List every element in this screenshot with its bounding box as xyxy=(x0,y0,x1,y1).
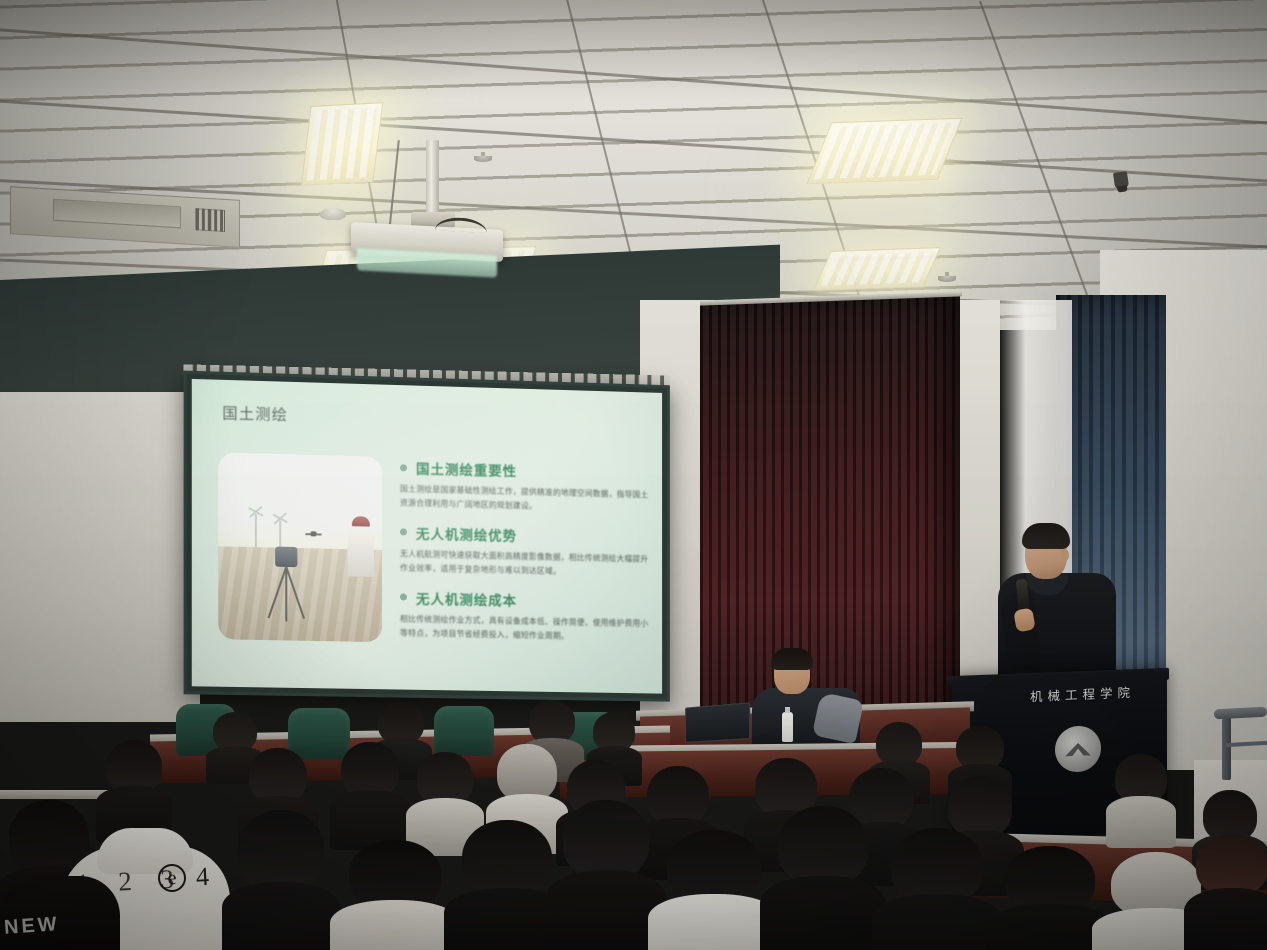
audience-member xyxy=(330,742,410,840)
slide-bullet-item: 无人机测绘优势 无人机航测可快速获取大面积高精度影像数据，相比传统测绘大幅提升作… xyxy=(400,522,648,581)
projection-screen: 国土测绘 xyxy=(184,371,670,702)
bullet-body: 相比传统测绘作业方式，具有设备成本低、操作简便、使用维护费用小等特点，为项目节省… xyxy=(400,612,648,645)
audience-member xyxy=(1184,834,1267,950)
audience-member xyxy=(760,806,886,950)
slide-bullet-list: 国土测绘重要性 国土测绘是国家基础性测绘工作，提供精准的地理空间数据，指导国土资… xyxy=(400,457,648,656)
seated-person xyxy=(752,648,860,742)
bullet-dot-icon xyxy=(400,464,407,471)
ceiling-projector xyxy=(351,222,503,262)
audience-member xyxy=(1106,754,1176,838)
projector-mount-pole xyxy=(426,140,439,218)
audience-member xyxy=(222,810,340,950)
audience-member xyxy=(330,840,460,950)
left-wall xyxy=(0,392,200,722)
laptop xyxy=(685,702,750,743)
railing-post xyxy=(1222,718,1231,780)
slide-bullet-item: 国土测绘重要性 国土测绘是国家基础性测绘工作，提供精准的地理空间数据，指导国土资… xyxy=(400,457,648,517)
presentation-slide: 国土测绘 xyxy=(192,379,662,694)
shirt-print-text: NEW xyxy=(3,913,60,940)
bullet-heading: 国土测绘重要性 xyxy=(416,458,517,481)
presenter xyxy=(992,527,1122,687)
wind-turbine-icon xyxy=(255,514,257,548)
survey-tripod xyxy=(271,546,301,619)
wind-turbine-icon xyxy=(279,520,281,548)
lecture-hall-photo: 国土测绘 xyxy=(0,0,1267,950)
bullet-dot-icon xyxy=(400,529,407,536)
bullet-heading: 无人机测绘优势 xyxy=(416,523,517,545)
bullet-body: 国土测绘是国家基础性测绘工作，提供精准的地理空间数据，指导国土资源合理利用与广阔… xyxy=(400,482,648,517)
audience-member xyxy=(872,828,1002,950)
slide-title: 国土测绘 xyxy=(222,402,288,425)
slide-bullet-item: 无人机测绘成本 相比传统测绘作业方式，具有设备成本低、操作简便、使用维护费用小等… xyxy=(400,587,648,645)
field-worker xyxy=(348,516,374,577)
slide-photo xyxy=(218,452,382,642)
bullet-heading: 无人机测绘成本 xyxy=(416,587,517,609)
drone-icon xyxy=(305,531,321,536)
water-bottle xyxy=(782,712,793,742)
chair xyxy=(434,706,494,756)
bullet-dot-icon xyxy=(400,594,407,601)
hoodie-print-four: 4 xyxy=(195,862,210,893)
bullet-body: 无人机航测可快速获取大面积高精度影像数据，相比传统测绘大幅提升作业效率，适用于复… xyxy=(400,547,648,581)
audience-member xyxy=(96,740,172,832)
